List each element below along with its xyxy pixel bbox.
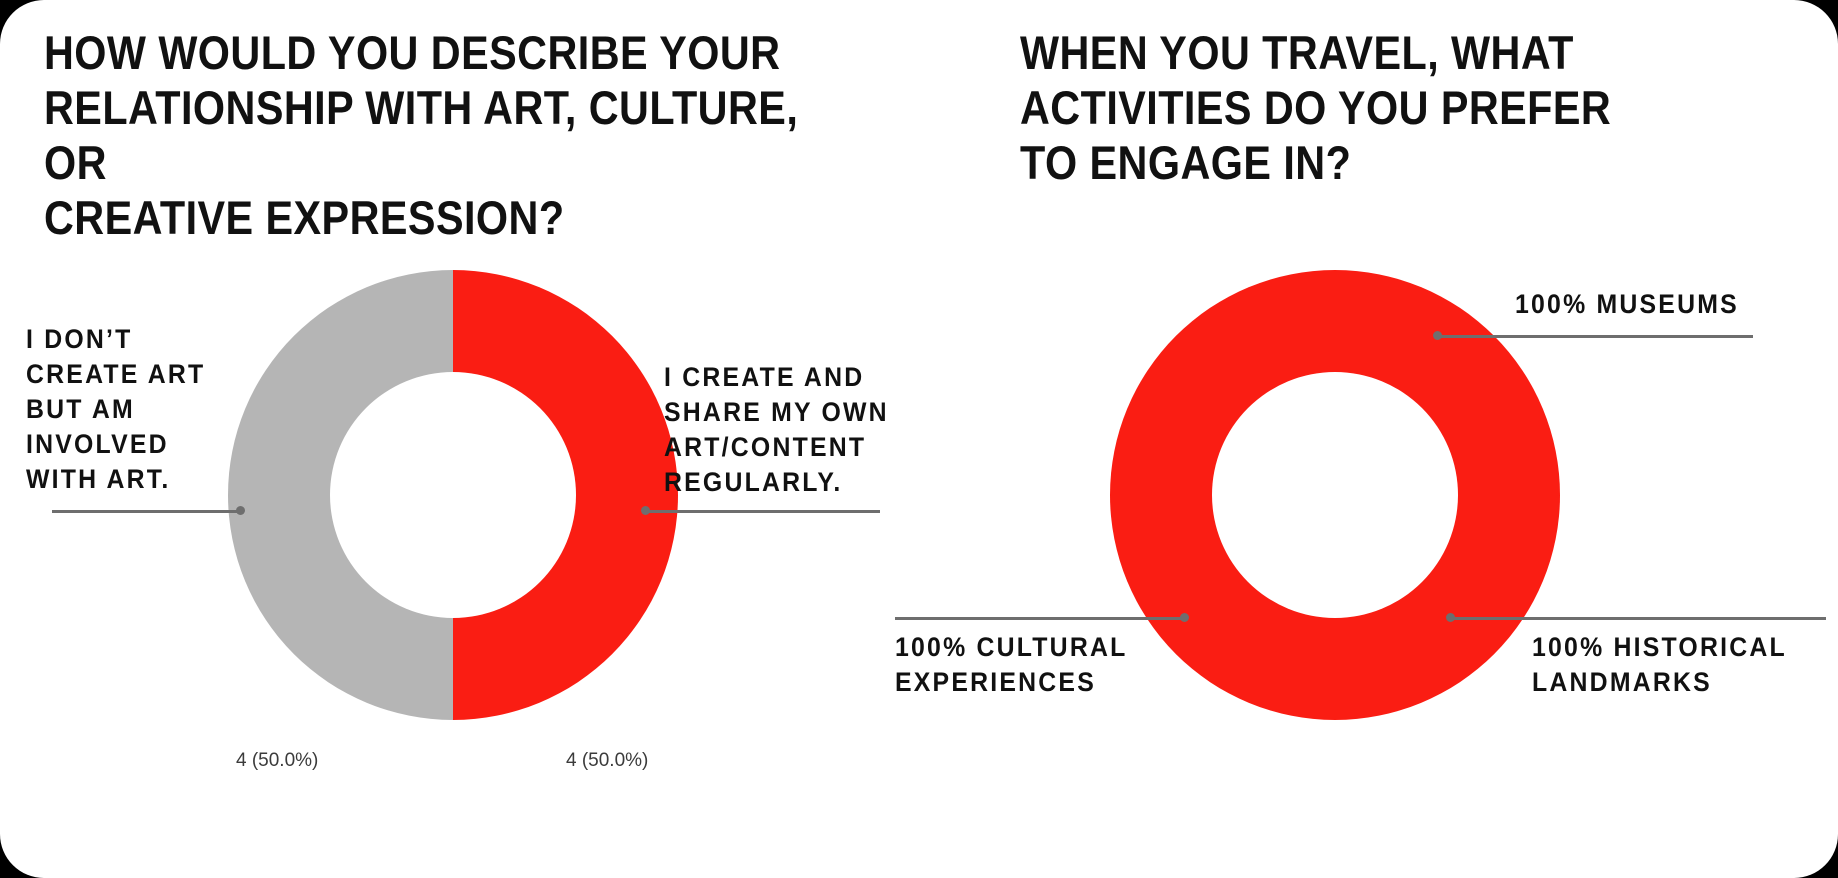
leader-line-dont-create-art — [52, 510, 242, 513]
donut-hole-travel-activities — [1212, 372, 1458, 618]
slice-label-museums: 100% MUSEUMS — [1515, 287, 1791, 322]
page-title-art-relationship: HOW WOULD YOU DESCRIBE YOUR RELATIONSHIP… — [44, 26, 801, 246]
leader-line-create-and-share — [646, 510, 880, 513]
leader-line-museums — [1437, 335, 1753, 338]
page-title-travel-activities: WHEN YOU TRAVEL, WHAT ACTIVITIES DO YOU … — [1020, 26, 1636, 191]
leader-dot-historical-landmarks — [1446, 613, 1455, 622]
leader-line-historical-landmarks — [1450, 617, 1826, 620]
slide-canvas: HOW WOULD YOU DESCRIBE YOUR RELATIONSHIP… — [0, 0, 1838, 878]
slice-label-historical-landmarks: 100% HISTORICAL LANDMARKS — [1532, 630, 1808, 700]
donut-hole-art-relationship — [330, 372, 576, 618]
leader-line-cultural-experiences — [895, 617, 1185, 620]
chart-art-relationship: I DON’T CREATE ART BUT AM INVOLVED WITH … — [0, 250, 900, 730]
leader-dot-dont-create-art — [236, 506, 245, 515]
slice-value-dont-create-art: 4 (50.0%) — [236, 750, 318, 772]
slice-label-dont-create-art: I DON’T CREATE ART BUT AM INVOLVED WITH … — [26, 322, 247, 497]
leader-dot-cultural-experiences — [1180, 613, 1189, 622]
leader-dot-museums — [1433, 331, 1442, 340]
slice-label-create-and-share: I CREATE AND SHARE MY OWN ART/CONTENT RE… — [664, 360, 894, 500]
slice-label-cultural-experiences: 100% CULTURAL EXPERIENCES — [895, 630, 1134, 700]
leader-dot-create-and-share — [641, 506, 650, 515]
slice-value-create-and-share: 4 (50.0%) — [566, 750, 648, 772]
